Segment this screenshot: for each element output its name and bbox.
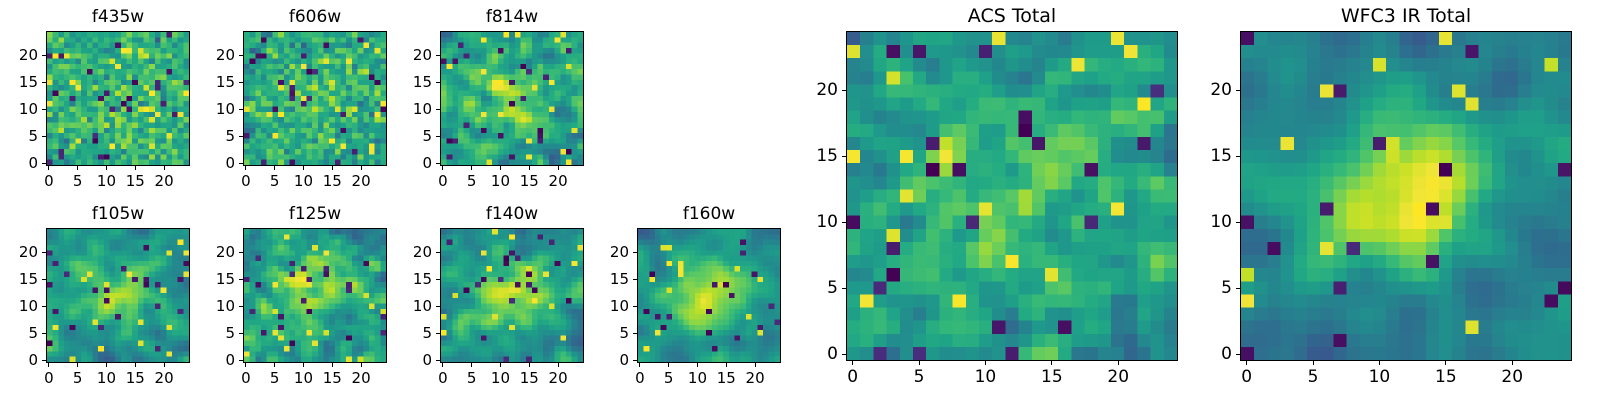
y-tick-mark: [239, 306, 243, 307]
x-tick-label: 5: [467, 172, 477, 190]
y-tick-mark: [633, 360, 637, 361]
x-tick-mark: [985, 361, 986, 365]
heatmap-image: [47, 32, 189, 165]
heatmap-plot-area: [243, 31, 387, 166]
x-tick-label: 20: [549, 369, 568, 387]
y-tick-label: 20: [0, 243, 38, 261]
y-tick-mark: [1236, 156, 1240, 157]
y-tick-label: 0: [183, 351, 235, 369]
x-tick-label: 0: [1241, 367, 1252, 387]
panel-title: f160w: [637, 204, 781, 224]
heatmap-plot-area: [440, 228, 584, 363]
panel-title: f105w: [46, 204, 190, 224]
y-tick-mark: [436, 279, 440, 280]
x-tick-label: 5: [664, 369, 674, 387]
x-tick-mark: [471, 363, 472, 367]
x-tick-label: 0: [438, 172, 448, 190]
x-tick-label: 10: [97, 172, 116, 190]
y-tick-label: 15: [577, 270, 629, 288]
x-tick-mark: [77, 166, 78, 170]
x-tick-label: 5: [914, 367, 925, 387]
y-tick-mark: [1236, 354, 1240, 355]
x-tick-label: 20: [352, 172, 371, 190]
x-tick-label: 20: [746, 369, 765, 387]
x-tick-mark: [48, 363, 49, 367]
x-tick-mark: [1118, 361, 1119, 365]
x-tick-mark: [274, 166, 275, 170]
y-tick-mark: [633, 252, 637, 253]
x-tick-label: 5: [270, 172, 280, 190]
x-tick-mark: [303, 363, 304, 367]
x-tick-label: 20: [549, 172, 568, 190]
x-tick-mark: [135, 166, 136, 170]
y-tick-label: 10: [380, 297, 432, 315]
y-tick-mark: [436, 360, 440, 361]
y-tick-label: 10: [0, 100, 38, 118]
y-tick-label: 0: [380, 351, 432, 369]
x-tick-label: 20: [352, 369, 371, 387]
panel-title: ACS Total: [846, 5, 1178, 27]
y-tick-mark: [42, 306, 46, 307]
x-tick-label: 10: [294, 369, 313, 387]
x-tick-mark: [106, 363, 107, 367]
y-tick-mark: [842, 222, 846, 223]
x-tick-mark: [361, 166, 362, 170]
heatmap-plot-area: [1240, 31, 1572, 361]
x-tick-label: 10: [975, 367, 997, 387]
x-tick-label: 5: [1308, 367, 1319, 387]
y-tick-mark: [239, 109, 243, 110]
y-tick-label: 10: [577, 297, 629, 315]
x-tick-mark: [500, 363, 501, 367]
y-tick-mark: [42, 82, 46, 83]
x-tick-mark: [471, 166, 472, 170]
y-tick-mark: [436, 136, 440, 137]
y-tick-mark: [436, 82, 440, 83]
x-tick-mark: [332, 166, 333, 170]
y-tick-mark: [239, 55, 243, 56]
heatmap-image: [638, 229, 780, 362]
x-tick-label: 20: [1107, 367, 1129, 387]
y-tick-label: 15: [1180, 146, 1232, 166]
x-tick-label: 0: [241, 369, 251, 387]
y-tick-mark: [842, 354, 846, 355]
y-tick-mark: [1236, 222, 1240, 223]
heatmap-plot-area: [440, 31, 584, 166]
x-tick-mark: [1512, 361, 1513, 365]
x-tick-mark: [245, 363, 246, 367]
x-tick-label: 15: [126, 369, 145, 387]
x-tick-label: 0: [847, 367, 858, 387]
x-tick-label: 15: [520, 172, 539, 190]
y-tick-mark: [436, 306, 440, 307]
heatmap-plot-area: [243, 228, 387, 363]
x-tick-label: 5: [73, 369, 83, 387]
x-tick-label: 5: [73, 172, 83, 190]
y-tick-mark: [436, 109, 440, 110]
heatmap-image: [847, 32, 1177, 360]
heatmap-image: [244, 32, 386, 165]
panel-title: WFC3 IR Total: [1240, 5, 1572, 27]
panel-title: f125w: [243, 204, 387, 224]
panel-title: f140w: [440, 204, 584, 224]
x-tick-mark: [1313, 361, 1314, 365]
x-tick-mark: [726, 363, 727, 367]
x-tick-mark: [48, 166, 49, 170]
x-tick-mark: [442, 363, 443, 367]
y-tick-mark: [239, 163, 243, 164]
x-tick-mark: [852, 361, 853, 365]
y-tick-label: 20: [183, 243, 235, 261]
y-tick-mark: [436, 252, 440, 253]
y-tick-mark: [842, 156, 846, 157]
y-tick-label: 10: [1180, 212, 1232, 232]
y-tick-label: 15: [183, 270, 235, 288]
x-tick-label: 5: [467, 369, 477, 387]
y-tick-mark: [633, 333, 637, 334]
y-tick-label: 5: [380, 127, 432, 145]
x-tick-mark: [668, 363, 669, 367]
panel-title: f606w: [243, 7, 387, 27]
y-tick-label: 0: [0, 154, 38, 172]
x-tick-mark: [919, 361, 920, 365]
x-tick-mark: [639, 363, 640, 367]
y-tick-label: 0: [0, 351, 38, 369]
y-tick-label: 10: [0, 297, 38, 315]
y-tick-mark: [239, 136, 243, 137]
y-tick-mark: [42, 252, 46, 253]
y-tick-mark: [239, 82, 243, 83]
y-tick-mark: [239, 360, 243, 361]
y-tick-label: 20: [577, 243, 629, 261]
y-tick-mark: [239, 333, 243, 334]
y-tick-mark: [42, 333, 46, 334]
y-tick-mark: [1236, 288, 1240, 289]
x-tick-label: 0: [44, 172, 54, 190]
x-tick-mark: [529, 363, 530, 367]
y-tick-label: 15: [380, 270, 432, 288]
y-tick-label: 5: [577, 324, 629, 342]
y-tick-mark: [239, 252, 243, 253]
x-tick-mark: [755, 363, 756, 367]
x-tick-label: 5: [270, 369, 280, 387]
y-tick-mark: [239, 279, 243, 280]
panel-title: f814w: [440, 7, 584, 27]
x-tick-label: 10: [294, 172, 313, 190]
x-tick-mark: [303, 166, 304, 170]
x-tick-mark: [1379, 361, 1380, 365]
y-tick-label: 0: [577, 351, 629, 369]
y-tick-mark: [42, 55, 46, 56]
heatmap-plot-area: [637, 228, 781, 363]
y-tick-label: 15: [0, 73, 38, 91]
heatmap-image: [441, 32, 583, 165]
x-tick-label: 15: [717, 369, 736, 387]
x-tick-label: 0: [635, 369, 645, 387]
x-tick-mark: [77, 363, 78, 367]
y-tick-label: 5: [0, 324, 38, 342]
heatmap-image: [1241, 32, 1571, 360]
x-tick-label: 15: [323, 172, 342, 190]
y-tick-mark: [633, 306, 637, 307]
y-tick-label: 15: [0, 270, 38, 288]
x-tick-label: 10: [491, 369, 510, 387]
x-tick-mark: [164, 166, 165, 170]
y-tick-label: 20: [183, 46, 235, 64]
y-tick-label: 15: [786, 146, 838, 166]
heatmap-image: [441, 229, 583, 362]
heatmap-image: [47, 229, 189, 362]
x-tick-mark: [442, 166, 443, 170]
x-tick-label: 20: [1501, 367, 1523, 387]
y-tick-label: 5: [1180, 278, 1232, 298]
y-tick-label: 5: [380, 324, 432, 342]
y-tick-mark: [42, 360, 46, 361]
y-tick-label: 15: [380, 73, 432, 91]
x-tick-mark: [164, 363, 165, 367]
x-tick-label: 15: [1041, 367, 1063, 387]
x-tick-label: 0: [44, 369, 54, 387]
x-tick-label: 15: [1435, 367, 1457, 387]
x-tick-label: 10: [688, 369, 707, 387]
y-tick-mark: [842, 90, 846, 91]
heatmap-plot-area: [46, 228, 190, 363]
x-tick-mark: [274, 363, 275, 367]
x-tick-label: 10: [97, 369, 116, 387]
y-tick-label: 0: [380, 154, 432, 172]
x-tick-mark: [332, 363, 333, 367]
x-tick-mark: [361, 363, 362, 367]
heatmap-image: [244, 229, 386, 362]
x-tick-mark: [500, 166, 501, 170]
y-tick-label: 20: [380, 46, 432, 64]
panel-title: f435w: [46, 7, 190, 27]
y-tick-label: 20: [786, 80, 838, 100]
x-tick-mark: [245, 166, 246, 170]
y-tick-label: 15: [183, 73, 235, 91]
x-tick-label: 10: [1369, 367, 1391, 387]
y-tick-mark: [633, 279, 637, 280]
x-tick-label: 15: [323, 369, 342, 387]
y-tick-mark: [42, 163, 46, 164]
x-tick-mark: [558, 363, 559, 367]
x-tick-mark: [135, 363, 136, 367]
x-tick-label: 20: [155, 369, 174, 387]
y-tick-label: 10: [786, 212, 838, 232]
y-tick-mark: [842, 288, 846, 289]
y-tick-mark: [436, 163, 440, 164]
y-tick-label: 5: [183, 324, 235, 342]
y-tick-label: 10: [183, 297, 235, 315]
y-tick-label: 5: [0, 127, 38, 145]
x-tick-mark: [1051, 361, 1052, 365]
y-tick-label: 10: [183, 100, 235, 118]
heatmap-plot-area: [46, 31, 190, 166]
y-tick-label: 5: [183, 127, 235, 145]
x-tick-label: 0: [438, 369, 448, 387]
y-tick-mark: [42, 109, 46, 110]
x-tick-label: 15: [520, 369, 539, 387]
y-tick-label: 0: [1180, 344, 1232, 364]
x-tick-mark: [529, 166, 530, 170]
x-tick-label: 0: [241, 172, 251, 190]
x-tick-mark: [1246, 361, 1247, 365]
y-tick-mark: [42, 279, 46, 280]
y-tick-mark: [1236, 90, 1240, 91]
x-tick-label: 20: [155, 172, 174, 190]
y-tick-label: 10: [380, 100, 432, 118]
x-tick-mark: [1445, 361, 1446, 365]
x-tick-label: 15: [126, 172, 145, 190]
y-tick-label: 0: [786, 344, 838, 364]
y-tick-label: 20: [380, 243, 432, 261]
heatmap-plot-area: [846, 31, 1178, 361]
x-tick-label: 10: [491, 172, 510, 190]
y-tick-mark: [42, 136, 46, 137]
y-tick-mark: [436, 55, 440, 56]
y-tick-label: 0: [183, 154, 235, 172]
x-tick-mark: [697, 363, 698, 367]
x-tick-mark: [558, 166, 559, 170]
y-tick-mark: [436, 333, 440, 334]
x-tick-mark: [106, 166, 107, 170]
y-tick-label: 20: [0, 46, 38, 64]
y-tick-label: 5: [786, 278, 838, 298]
y-tick-label: 20: [1180, 80, 1232, 100]
